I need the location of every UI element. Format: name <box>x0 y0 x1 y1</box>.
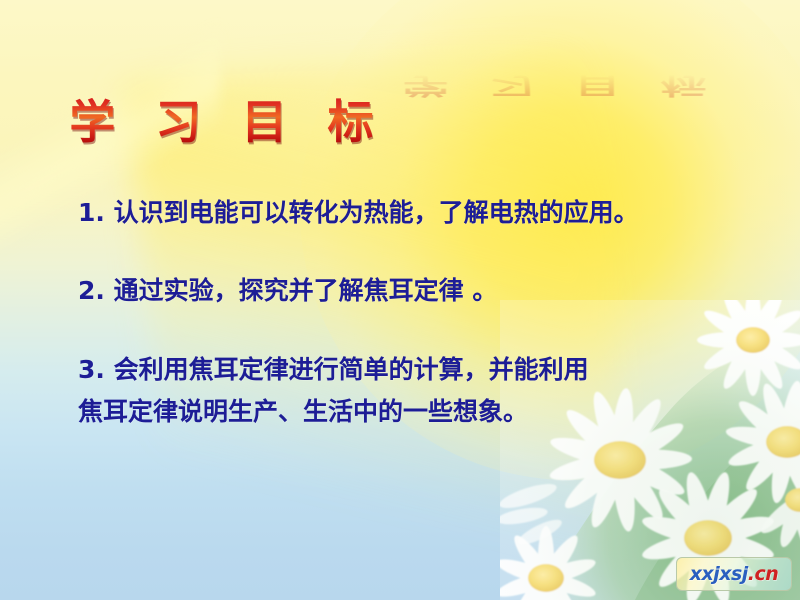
watermark-text-secondary: .cn <box>748 565 779 584</box>
objective-1-number: 1. <box>78 198 105 227</box>
slide-title-block: 学 习 目 标 学 习 目 标 <box>0 98 800 146</box>
page-title-reflection: 学 习 目 标 <box>403 74 731 98</box>
presentation-slide: 学 习 目 标 学 习 目 标 1. 认识到电能可以转化为热能，了解电热的应用。… <box>0 0 800 600</box>
objective-1-text: 认识到电能可以转化为热能，了解电热的应用。 <box>114 198 639 227</box>
objective-2-text: 通过实验，探究并了解焦耳定律 。 <box>114 276 498 305</box>
objectives-list: 1. 认识到电能可以转化为热能，了解电热的应用。 2. 通过实验，探究并了解焦耳… <box>78 198 728 426</box>
page-title: 学 习 目 标 <box>69 98 397 146</box>
objective-3-text-continued: 焦耳定律说明生产、生活中的一些想象。 <box>78 397 528 426</box>
watermark-text-primary: xxjxsj <box>690 565 748 584</box>
objective-item-3: 3. 会利用焦耳定律进行简单的计算，并能利用 <box>78 355 728 385</box>
objective-item-2: 2. 通过实验，探究并了解焦耳定律 。 <box>78 276 728 306</box>
objective-3-text: 会利用焦耳定律进行简单的计算，并能利用 <box>114 355 589 384</box>
objective-item-1: 1. 认识到电能可以转化为热能，了解电热的应用。 <box>78 198 728 228</box>
objective-2-number: 2. <box>78 276 105 305</box>
watermark-badge: xxjxsj.cn <box>676 557 792 591</box>
objective-item-3-continued: 焦耳定律说明生产、生活中的一些想象。 <box>78 397 728 427</box>
objective-3-number: 3. <box>78 355 105 384</box>
